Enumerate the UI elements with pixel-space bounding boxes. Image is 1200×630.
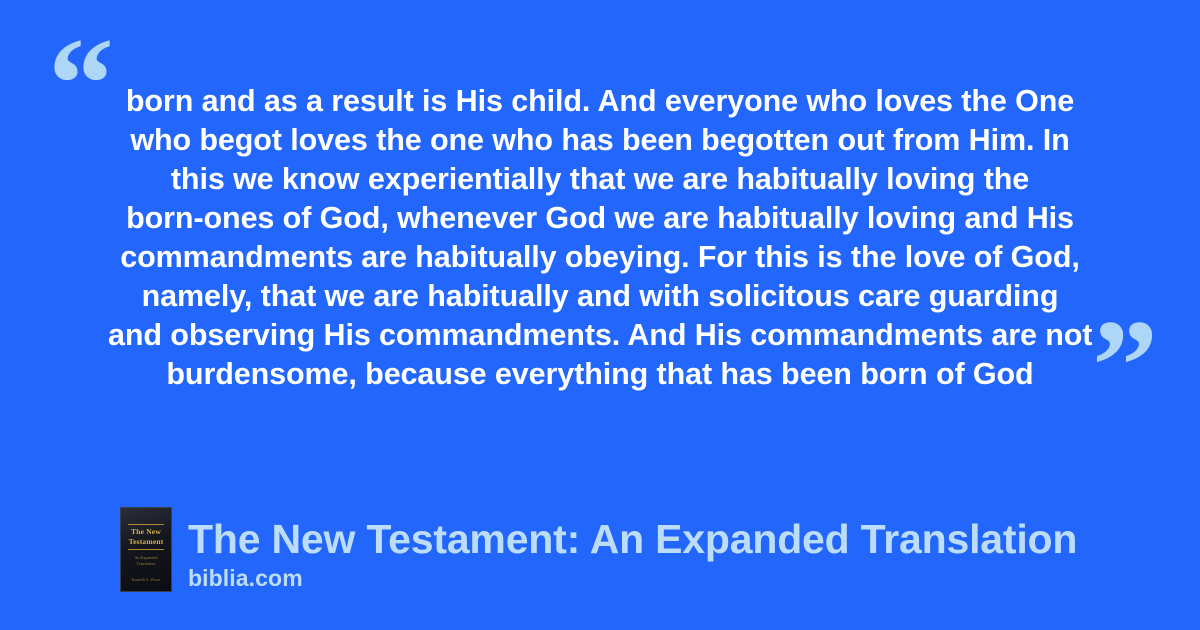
- book-cover-thumbnail: The New Testament An Expanded Translatio…: [120, 507, 172, 592]
- quote-line: commandments are habitually obeying. For…: [108, 238, 1092, 277]
- cover-subtitle-line-1: An Expanded: [135, 555, 158, 560]
- cover-author: Kenneth S. Wuest: [121, 577, 171, 583]
- cover-rule-top: [128, 524, 164, 525]
- quote-line: born and as a result is His child. And e…: [108, 82, 1092, 121]
- quote-line: born-ones of God, whenever God we are ha…: [108, 199, 1092, 238]
- quote-region: “ born and as a result is His child. And…: [0, 0, 1200, 440]
- attribution-footer: The New Testament An Expanded Translatio…: [120, 507, 1077, 592]
- cover-title: The New Testament: [121, 527, 171, 547]
- cover-title-line-2: Testament: [129, 537, 164, 546]
- site-name: biblia.com: [188, 564, 1077, 592]
- quote-line: burdensome, because everything that has …: [108, 355, 1092, 394]
- cover-title-line-1: The New: [131, 527, 161, 536]
- quote-card: “ born and as a result is His child. And…: [0, 0, 1200, 630]
- footer-text-group: The New Testament: An Expanded Translati…: [188, 516, 1077, 592]
- quote-line: who begot loves the one who has been beg…: [108, 121, 1092, 160]
- quote-line: and observing His commandments. And His …: [108, 316, 1092, 355]
- cover-subtitle: An Expanded Translation: [121, 555, 171, 567]
- cover-rule-bottom: [128, 549, 164, 550]
- close-quote-icon: ”: [1092, 300, 1156, 432]
- open-quote-icon: “: [48, 18, 112, 150]
- cover-subtitle-line-2: Translation: [137, 561, 156, 566]
- book-title: The New Testament: An Expanded Translati…: [188, 516, 1077, 562]
- quote-line: namely, that we are habitually and with …: [108, 277, 1092, 316]
- quote-line: this we know experientially that we are …: [108, 160, 1092, 199]
- quote-text: born and as a result is His child. And e…: [108, 82, 1092, 394]
